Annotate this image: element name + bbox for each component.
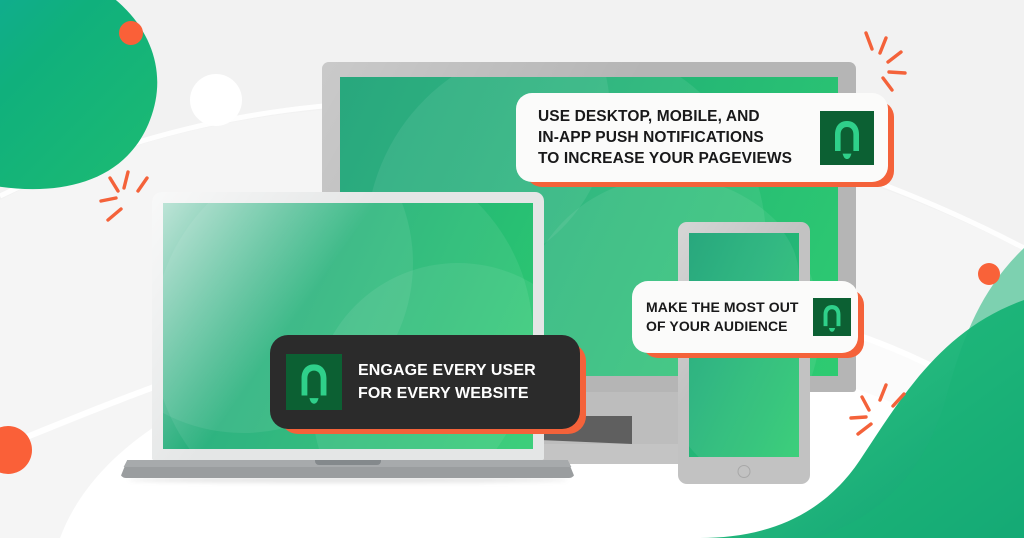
white-circle-top-left	[190, 74, 242, 126]
card-mid-text: MAKE THE MOST OUT OF YOUR AUDIENCE	[646, 298, 799, 336]
card-front-line-1: ENGAGE EVERY USER	[358, 359, 536, 382]
notification-card-top[interactable]: USE DESKTOP, MOBILE, AND IN-APP PUSH NOT…	[516, 93, 888, 182]
notification-card-mid[interactable]: MAKE THE MOST OUT OF YOUR AUDIENCE	[632, 281, 858, 353]
card-top-line-1: USE DESKTOP, MOBILE, AND	[538, 106, 792, 127]
bell-logo-icon	[286, 354, 342, 410]
card-mid-line-1: MAKE THE MOST OUT	[646, 298, 799, 317]
laptop-base-notch	[315, 460, 381, 465]
banner-canvas: USE DESKTOP, MOBILE, AND IN-APP PUSH NOT…	[0, 0, 1024, 538]
card-mid-line-2: OF YOUR AUDIENCE	[646, 317, 799, 336]
card-front-line-2: FOR EVERY WEBSITE	[358, 382, 536, 405]
card-top-text: USE DESKTOP, MOBILE, AND IN-APP PUSH NOT…	[538, 106, 792, 169]
orange-dot-top-left	[119, 21, 143, 45]
tablet-home-button[interactable]	[738, 465, 751, 478]
notification-card-front[interactable]: ENGAGE EVERY USER FOR EVERY WEBSITE	[270, 335, 580, 429]
bell-logo-icon	[813, 298, 851, 336]
card-front-text: ENGAGE EVERY USER FOR EVERY WEBSITE	[358, 359, 536, 405]
card-top-line-3: TO INCREASE YOUR PAGEVIEWS	[538, 148, 792, 169]
card-top-line-2: IN-APP PUSH NOTIFICATIONS	[538, 127, 792, 148]
orange-dot-right	[978, 263, 1000, 285]
bell-logo-icon	[820, 111, 874, 165]
